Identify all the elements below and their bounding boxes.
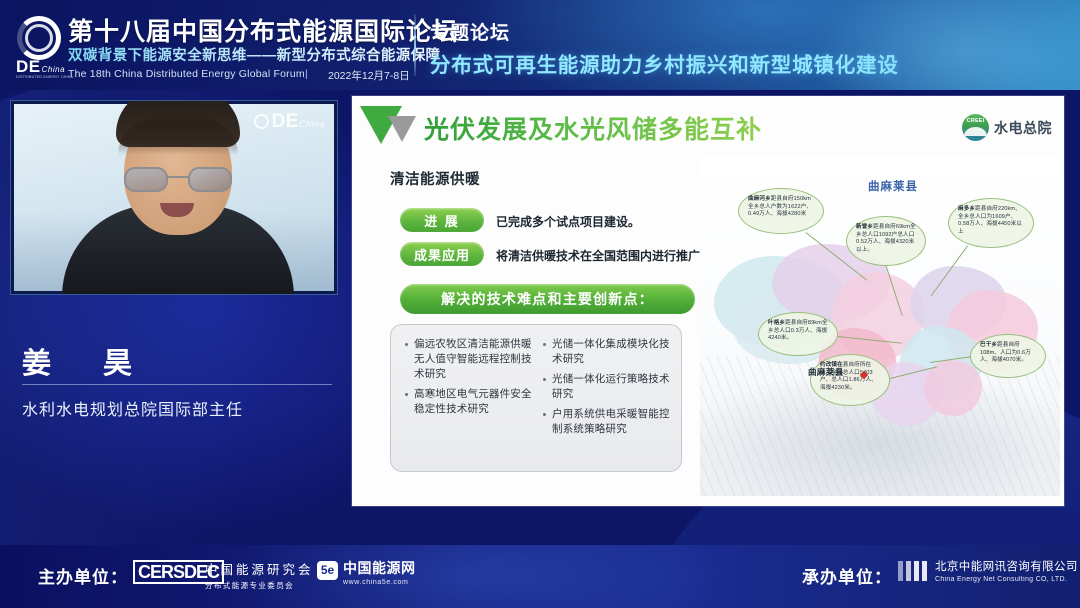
de-logo-tagline: DISTRIBUTED ENERGY CHINA <box>16 76 73 80</box>
session-title: 分布式可再生能源助力乡村振兴和新型城镇化建设 <box>430 48 899 78</box>
watermark-text: DE <box>272 111 299 132</box>
de-china-logo: DEChina DISTRIBUTED ENERGY CHINA <box>16 58 73 80</box>
china5e-cn: 中国能源网 <box>343 558 416 578</box>
map-callout: 曲麻河乡距县自府150km全乡总人户数为1622户、0.49万人、海拔4280米 <box>738 188 824 234</box>
cers-chinese-name: 中国能源研究会 分布式能源专业委员会 <box>205 559 314 591</box>
map-callout: 新誉乡距县自府69km全乡总人口1092户总人口0.52万人、海拔4320米以上… <box>846 216 926 266</box>
application-pill: 成果应用 <box>400 242 484 266</box>
cenc-en: China Energy Net Consulting CO, LTD. <box>935 576 1078 583</box>
innovation-box: 偏远农牧区清洁能源供暖无人值守智能远程控制技术研究 高寒地区电气元器件安全稳定性… <box>390 324 682 472</box>
map-title: 曲麻莱县 <box>868 178 918 194</box>
session-label: 专题论坛 <box>430 18 510 45</box>
watermark-cn: China <box>299 119 325 129</box>
china5e-name: 中国能源网 www.china5e.com <box>343 558 416 586</box>
innovation-column-right: 光储一体化集成模块化技术研究 光储一体化运行策略技术研究 户用系统供电采暖智能控… <box>541 337 673 442</box>
map-callout: 约改镇在县自府所在地、全镇总人口5403户、总人口1.86万人、海拔4230米。 <box>810 354 890 406</box>
header-vertical-divider <box>414 14 416 76</box>
speaker-name: 姜 昊 <box>22 340 154 382</box>
china5e-url: www.china5e.com <box>343 579 416 586</box>
presentation-slide[interactable]: 光伏发展及水光风储多能互补 CREEI 水电总院 清洁能源供暖 进 展 已完成多… <box>352 96 1064 506</box>
cenc-bars-icon <box>898 561 927 581</box>
innovation-column-left: 偏远农牧区清洁能源供暖无人值守智能远程控制技术研究 高寒地区电气元器件安全稳定性… <box>403 337 535 422</box>
de-logo-cn: China <box>42 65 65 74</box>
header-separator: | <box>305 68 308 80</box>
list-item: 偏远农牧区清洁能源供暖无人值守智能远程控制技术研究 <box>403 337 535 382</box>
slide-section-heading: 清洁能源供暖 <box>390 168 480 189</box>
progress-description: 已完成多个试点项目建设。 <box>496 213 640 230</box>
video-watermark: DEChina <box>254 111 325 133</box>
cenc-name: 北京中能网讯咨询有限公司 China Energy Net Consulting… <box>935 558 1078 583</box>
speaker-hair <box>116 100 240 147</box>
cers-line2: 分布式能源专业委员会 <box>205 580 314 591</box>
speaker-video-feed[interactable]: DEChina <box>10 100 338 295</box>
slide-title: 光伏发展及水光风储多能互补 <box>424 110 762 146</box>
cers-line1: 中国能源研究会 <box>205 559 314 578</box>
forum-date: 2022年12月7-8日 <box>328 68 410 83</box>
event-header-banner: DEChina DISTRIBUTED ENERGY CHINA 第十八届中国分… <box>0 0 1080 90</box>
innovation-banner: 解决的技术难点和主要创新点： <box>400 284 695 314</box>
china5e-logo-icon: 5e <box>317 561 338 580</box>
watermark-ring-icon <box>254 114 269 129</box>
creei-logo: CREEI 水电总院 <box>962 114 1052 141</box>
broadcast-stage: DEChina DISTRIBUTED ENERGY CHINA 第十八届中国分… <box>0 0 1080 608</box>
cenc-cn: 北京中能网讯咨询有限公司 <box>935 558 1078 574</box>
county-map: 曲麻莱县 曲麻河乡距县自府150km全乡总人户数为1622户、0.49万人、海拔… <box>700 156 1060 496</box>
glasses-icon <box>122 167 234 193</box>
gray-triangle-icon <box>388 116 416 142</box>
speaker-figure <box>62 137 294 295</box>
organizer-label: 承办单位： <box>802 563 892 588</box>
forum-main-title: 第十八届中国分布式能源国际论坛 <box>68 12 458 48</box>
list-item: 光储一体化运行策略技术研究 <box>541 372 673 402</box>
list-item: 高寒地区电气元器件安全稳定性技术研究 <box>403 387 535 417</box>
speaker-divider <box>22 384 332 385</box>
creei-badge-icon: CREEI <box>962 114 989 141</box>
creei-logo-text: 水电总院 <box>994 118 1052 138</box>
forum-subtitle: 双碳背景下能源安全新思维——新型分布式综合能源保障 <box>68 44 441 65</box>
creei-badge-text: CREEI <box>962 118 989 124</box>
map-callout: 叶格乡距县自府89km全乡总人口0.3万人、海拔4240米。 <box>758 312 838 356</box>
list-item: 光储一体化集成模块化技术研究 <box>541 337 673 367</box>
forum-english-title: The 18th China Distributed Energy Global… <box>68 68 305 80</box>
de-logo-text: DE <box>16 57 41 76</box>
map-callout: 麻多乡距县自府220km、全乡总人口为1609户、0.58万人、海拔4450米以… <box>948 198 1034 248</box>
map-callout: 巴干乡距县自府108m、人口为0.6万人、海拔4070米。 <box>970 334 1046 378</box>
list-item: 户用系统供电采暖智能控制系统策略研究 <box>541 407 673 437</box>
speaker-job-title: 水利水电规划总院国际部主任 <box>22 396 243 420</box>
slide-title-row: 光伏发展及水光风储多能互补 CREEI 水电总院 <box>352 102 1064 154</box>
host-label: 主办单位： <box>38 563 128 588</box>
progress-pill: 进 展 <box>400 208 484 232</box>
map-center-label: 曲麻莱县 <box>808 366 844 378</box>
